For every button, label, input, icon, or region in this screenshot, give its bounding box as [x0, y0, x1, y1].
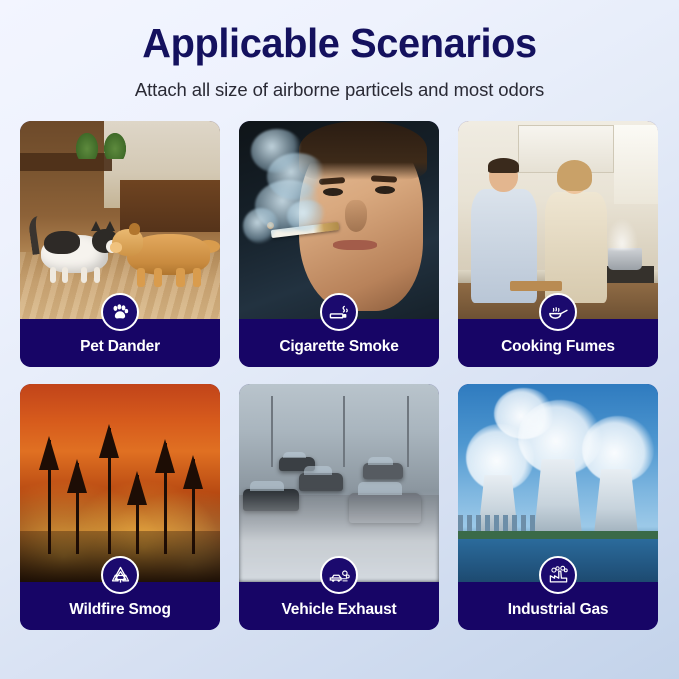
scenario-image-vehicle-exhaust	[239, 384, 439, 582]
cigarette-icon	[320, 293, 358, 331]
scenario-card-cigarette-smoke[interactable]: Cigarette Smoke	[239, 121, 439, 367]
page-title: Applicable Scenarios	[10, 22, 669, 65]
scenario-card-industrial-gas[interactable]: Industrial Gas	[458, 384, 658, 630]
scenario-image-industrial-gas	[458, 384, 658, 582]
scenario-card-wildfire-smog[interactable]: Wildfire Smog	[20, 384, 220, 630]
factory-smokestack-icon	[539, 556, 577, 594]
scenario-card-pet-dander[interactable]: Pet Dander	[20, 121, 220, 367]
page-subtitle: Attach all size of airborne particels an…	[0, 79, 679, 101]
scenario-card-grid: Pet Dander	[20, 121, 659, 630]
paw-print-icon	[101, 293, 139, 331]
scenario-label-wildfire-smog: Wildfire Smog	[69, 601, 170, 619]
scenario-label-industrial-gas: Industrial Gas	[508, 601, 609, 619]
frying-pan-icon	[539, 293, 577, 331]
scenario-image-cooking-fumes	[458, 121, 658, 319]
scenario-label-vehicle-exhaust: Vehicle Exhaust	[281, 601, 396, 619]
scenario-card-vehicle-exhaust[interactable]: Vehicle Exhaust	[239, 384, 439, 630]
scenario-image-cigarette-smoke	[239, 121, 439, 319]
scenario-label-cooking-fumes: Cooking Fumes	[501, 338, 615, 356]
scenario-card-cooking-fumes[interactable]: Cooking Fumes	[458, 121, 658, 367]
car-exhaust-icon	[320, 556, 358, 594]
page-header: Applicable Scenarios Attach all size of …	[0, 0, 679, 101]
scenario-image-wildfire-smog	[20, 384, 220, 582]
forest-fire-trees-icon	[101, 556, 139, 594]
scenario-label-pet-dander: Pet Dander	[80, 338, 160, 356]
scenario-image-pet-dander	[20, 121, 220, 319]
scenario-label-cigarette-smoke: Cigarette Smoke	[279, 338, 398, 356]
